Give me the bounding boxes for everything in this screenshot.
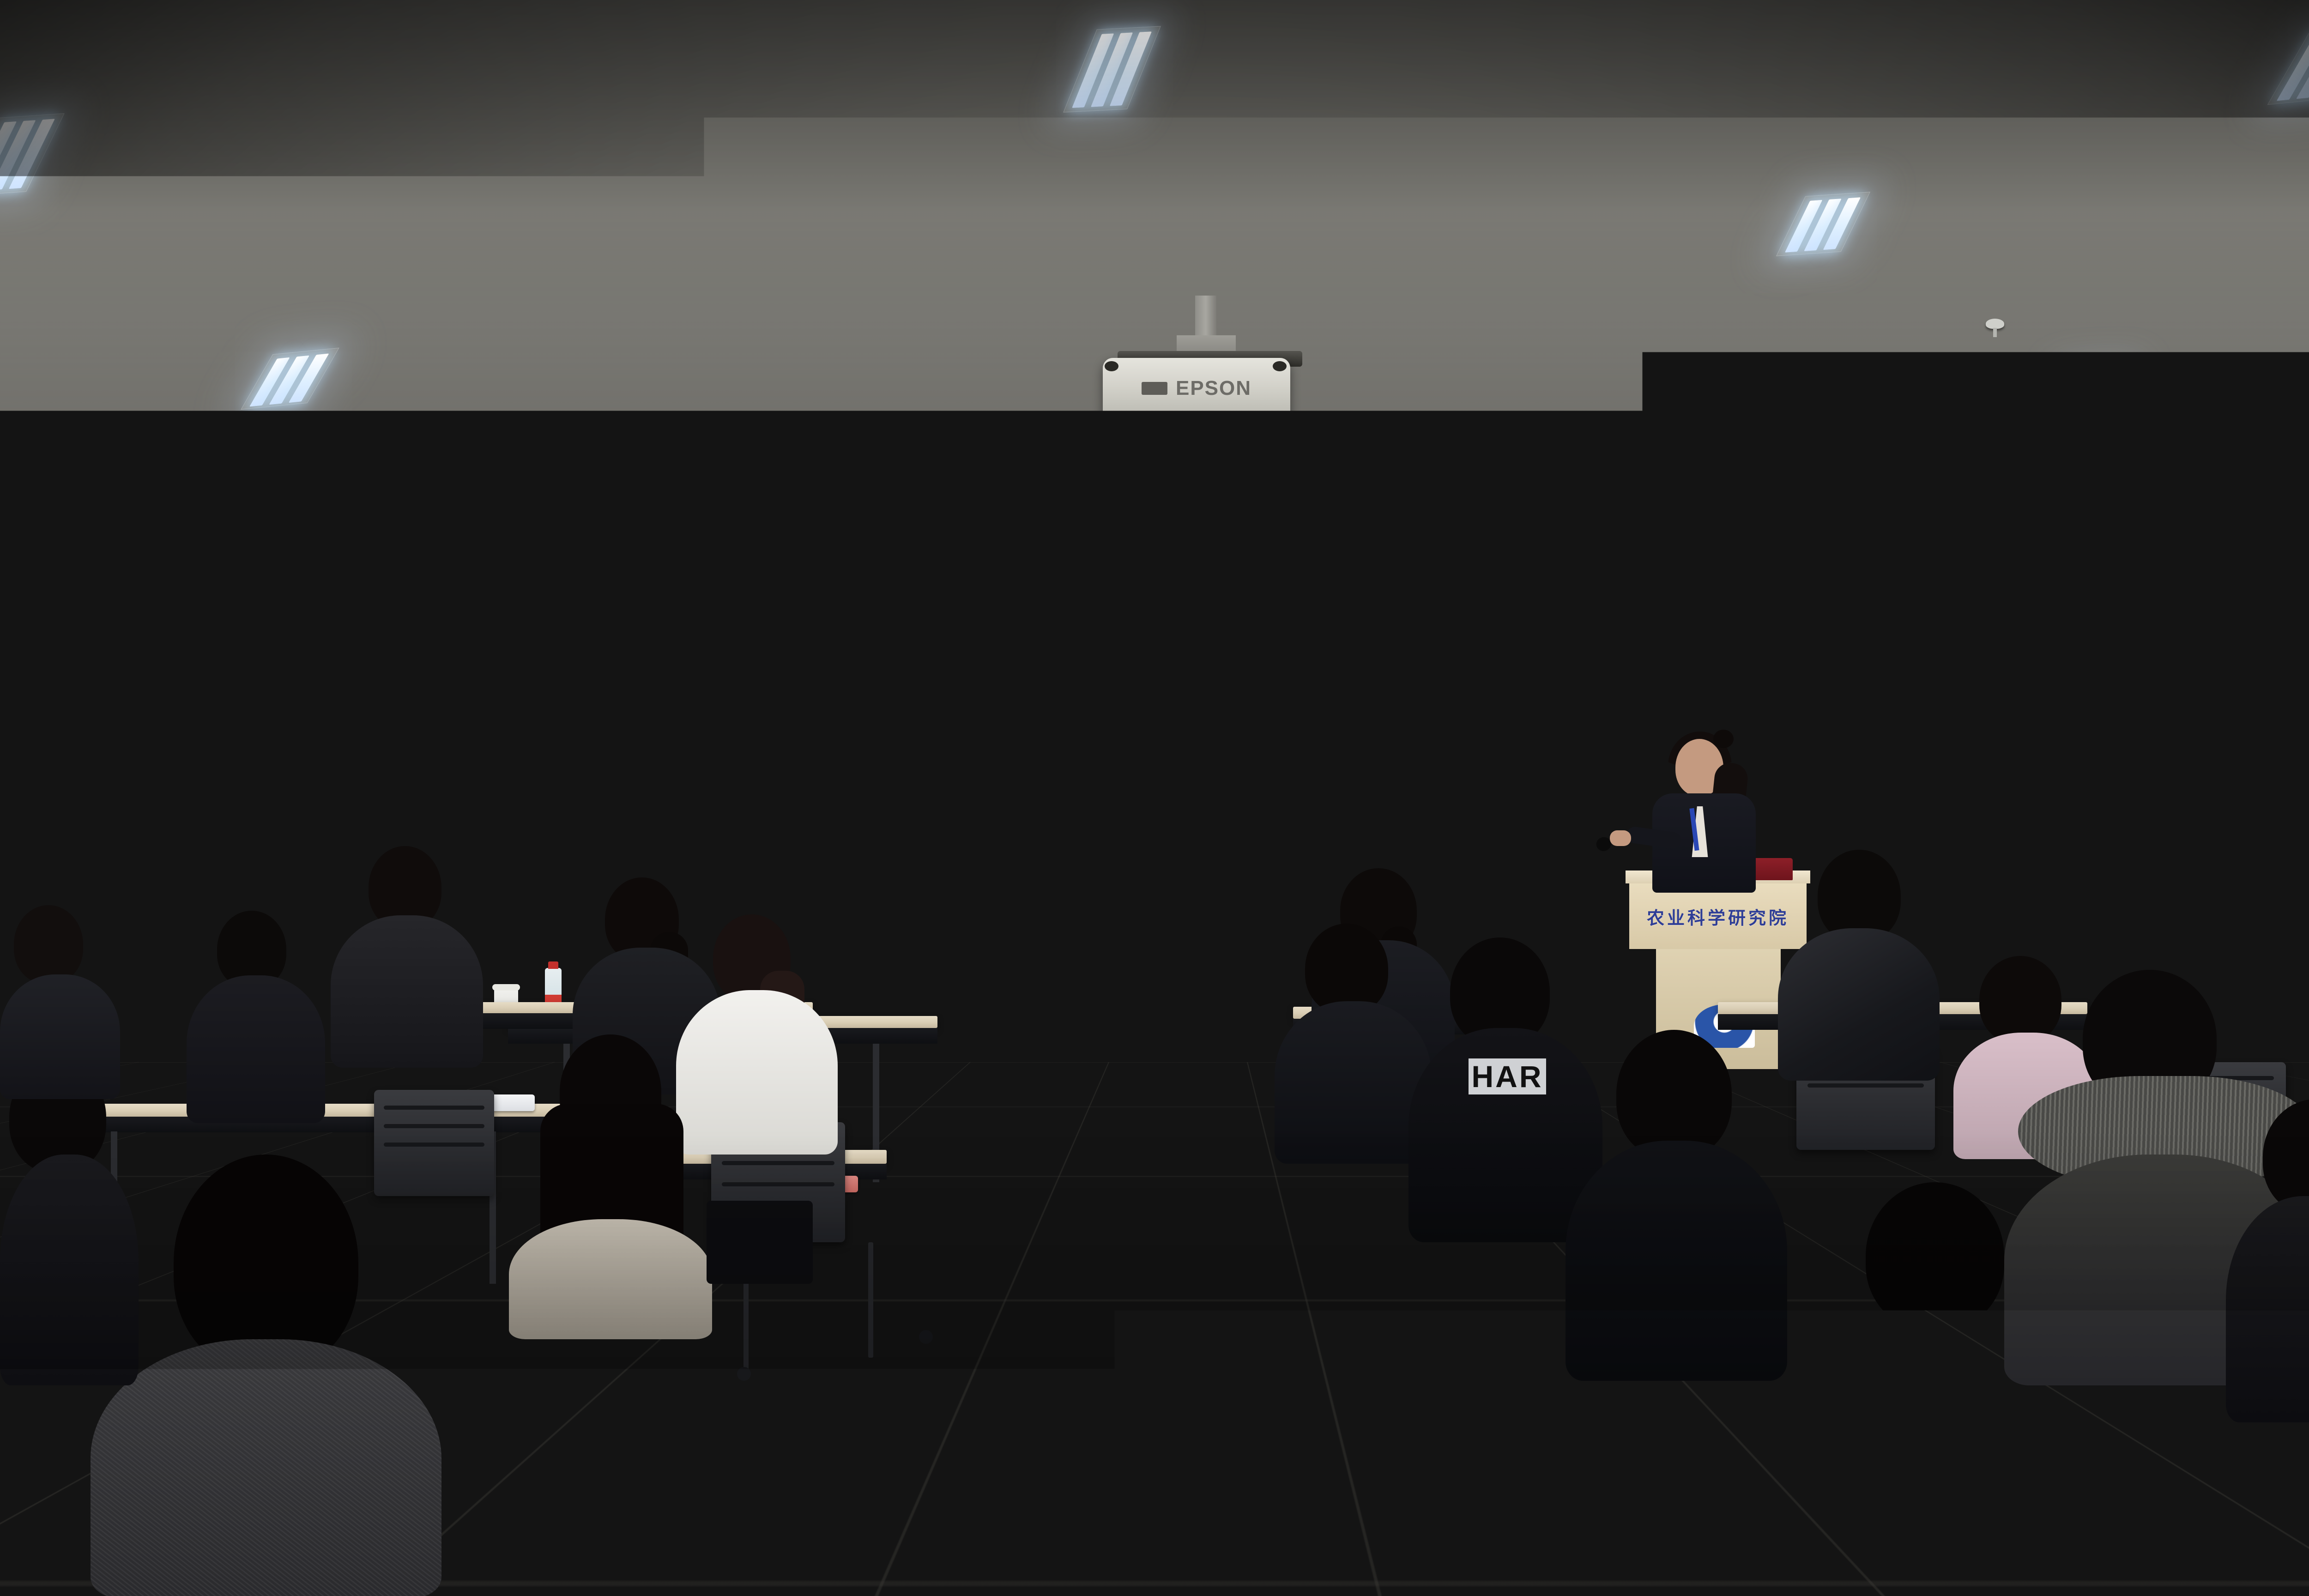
sprinkler-head-right	[1986, 319, 2004, 329]
slide-rainbow-divider-shadow	[998, 610, 1382, 614]
chair-slat	[722, 1161, 834, 1165]
documents-right[interactable]	[1704, 1016, 1783, 1025]
photosynthesis-outputs-box: O₂、C₆H₁₂O₆	[1245, 835, 1351, 858]
slide-rainbow-divider	[998, 598, 1382, 611]
head	[1866, 1182, 2004, 1330]
torso	[2226, 1196, 2309, 1422]
institution-department: 水稻研究所	[1278, 571, 1334, 584]
rack-led-blue	[2037, 949, 2042, 953]
projector-lens-housing	[1118, 416, 1275, 433]
audience-member-right-4	[1566, 1030, 1787, 1381]
rack-led-green	[2046, 924, 2051, 927]
section-heading: 水稻叶片的重要性	[980, 634, 1124, 655]
projector-brand-label: EPSON	[1176, 377, 1251, 400]
presenter-hair-bun	[1713, 730, 1734, 748]
torso	[1801, 1312, 2060, 1596]
audience-member-left-8	[0, 905, 120, 1099]
sprinkler-head-left	[319, 443, 337, 453]
photosynthesis-inputs-box: H₂O、CO₂	[1006, 835, 1096, 858]
audience-member-right-2	[1275, 924, 1432, 1164]
audience-member-left-7	[0, 1062, 139, 1385]
seminar-room-photo: EPSON OVER CSTTC 转基因植物与食品检测 重庆市重点实验室 研究背…	[0, 0, 2309, 1596]
chair-caster	[1304, 1372, 1318, 1385]
audience-member-left-1	[331, 846, 483, 1068]
chair-slat	[384, 1124, 484, 1128]
presenter-hand	[1610, 830, 1631, 846]
torso	[0, 974, 120, 1099]
institution-name: 西南大学	[1278, 551, 1334, 569]
torso-leather-jacket	[1778, 928, 1940, 1081]
chair-caster	[737, 1367, 751, 1381]
torso	[1566, 1141, 1787, 1381]
diagram-tick-mark	[1110, 839, 1112, 850]
section-number-hexagon: 1.3	[933, 626, 969, 666]
audience-member-right-5	[1778, 850, 1940, 1081]
reaction-arrow-icon	[1209, 836, 1235, 856]
audience-member-left-5	[504, 1034, 717, 1339]
institution-wordmark: 西南大学 水稻研究所	[1278, 551, 1334, 584]
ceiling-shading	[0, 0, 2309, 531]
bottle-cap-icon	[548, 961, 558, 969]
university-seal-icon	[1335, 545, 1373, 584]
projector-ceiling-pole	[1195, 296, 1216, 340]
chair-slat	[722, 1182, 834, 1186]
jacket-graphic-patch: HAR	[1469, 1058, 1546, 1094]
wall-seam	[522, 485, 1861, 486]
torso	[0, 1155, 139, 1385]
chair-leg	[1312, 1219, 1317, 1376]
projector-ir-sensor-icon	[1142, 382, 1167, 395]
ceiling	[0, 0, 2309, 531]
projector-foot-right	[1273, 361, 1287, 371]
head	[1305, 924, 1388, 1014]
audience-member-right-8	[2226, 1099, 2309, 1422]
handbag-left[interactable]	[707, 1201, 813, 1284]
audience-member-left-2	[187, 911, 325, 1123]
lab-badge-subtitle-2: 重庆市重点实验室	[930, 582, 997, 589]
podium-institution-text: 农业科学研究院	[1647, 904, 1789, 929]
torso	[509, 1219, 712, 1339]
smartphone-right[interactable]	[1736, 996, 1782, 1012]
audience-member-right-9	[1801, 1182, 2060, 1596]
chair-slat	[384, 1143, 484, 1147]
projector-foot-left	[1105, 361, 1118, 371]
ac-indicator-icon	[1972, 887, 1984, 893]
chair-leg	[868, 1242, 873, 1358]
screen-housing-sticker-icon	[1472, 499, 1480, 508]
screen-roller-housing: OVER	[801, 489, 1494, 520]
green-leaf-illustration	[1167, 674, 1210, 887]
bag-foreground[interactable]	[536, 1496, 804, 1596]
audience-member-left-6	[91, 1155, 441, 1596]
presenter	[1644, 739, 1764, 891]
torso	[1275, 1001, 1432, 1164]
chair-slat	[384, 1106, 484, 1110]
head	[14, 905, 83, 984]
projected-slide: CSTTC 转基因植物与食品检测 重庆市重点实验室 研究背景 西南大学 水稻研究…	[911, 536, 1382, 887]
head	[1616, 1030, 1732, 1159]
chair-caster	[919, 1330, 933, 1344]
section-underline	[980, 668, 1144, 669]
projector: EPSON	[1103, 358, 1290, 419]
chair-slat	[1807, 1083, 1924, 1088]
rice-plant-photo	[940, 702, 1051, 887]
jacket-graphic-text: HAR	[1472, 1059, 1543, 1094]
arrow-stem	[1209, 842, 1225, 850]
chair-right-4[interactable]	[1307, 1353, 1566, 1552]
screen-housing-label: OVER	[815, 500, 834, 507]
arrow-head	[1223, 836, 1235, 856]
torso	[331, 915, 483, 1068]
torso	[187, 975, 325, 1123]
torso-tweed-coat	[91, 1339, 441, 1596]
